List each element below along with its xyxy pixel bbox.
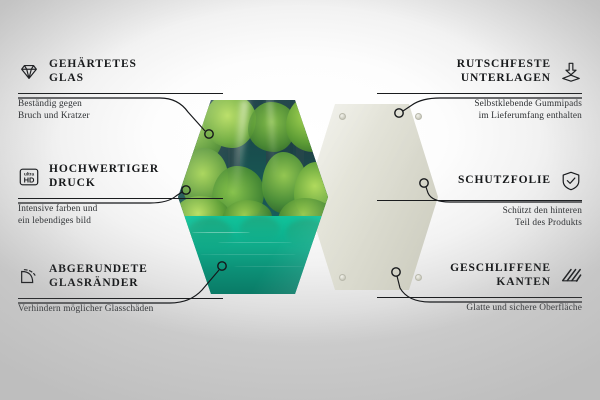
callout-header: SCHUTZFOLIE [377,170,582,192]
rounded-corner-icon [18,266,40,288]
callout-title: ABGERUNDETE GLASRÄNDER [49,263,148,290]
callout-rounded-glass-edges: ABGERUNDETE GLASRÄNDER Verhindern möglic… [18,263,223,316]
callout-divider [377,297,582,298]
diamond-icon [18,61,40,83]
callout-divider [18,93,223,94]
callout-header: GESCHLIFFENE KANTEN [377,262,582,289]
svg-text:HD: HD [24,175,35,184]
callout-polished-edges: GESCHLIFFENE KANTEN Glatte und sichere O… [377,262,582,315]
callout-title: SCHUTZFOLIE [458,174,551,188]
callout-title: GEHÄRTETES GLAS [49,58,137,85]
infographic-canvas: GEHÄRTETES GLAS Beständig gegen Bruch un… [0,0,600,400]
callout-subtitle: Schützt den hinteren Teil des Produkts [377,206,582,229]
callout-header: RUTSCHFESTE UNTERLAGEN [377,58,582,85]
callout-divider [377,93,582,94]
hatch-lines-icon [560,265,582,287]
ultra-hd-icon: ultra HD [18,166,40,188]
callout-subtitle: Verhindern möglicher Glasschäden [18,304,223,316]
callout-divider [377,200,582,201]
callout-header: ultra HD HOCHWERTIGER DRUCK [18,163,223,190]
callout-divider [18,298,223,299]
callout-subtitle: Selbstklebende Gummipads im Lieferumfang… [377,99,582,122]
callout-title: RUTSCHFESTE UNTERLAGEN [457,58,551,85]
callout-title: HOCHWERTIGER DRUCK [49,163,159,190]
callout-title: GESCHLIFFENE KANTEN [450,262,551,289]
arrow-down-pad-icon [560,61,582,83]
rubber-pad [339,274,346,281]
callout-header: GEHÄRTETES GLAS [18,58,223,85]
callout-tempered-glass: GEHÄRTETES GLAS Beständig gegen Bruch un… [18,58,223,122]
callout-subtitle: Beständig gegen Bruch und Kratzer [18,99,223,122]
callout-subtitle: Glatte und sichere Oberfläche [377,303,582,315]
callout-subtitle: Intensive farben und ein lebendiges bild [18,204,223,227]
callout-protective-film: SCHUTZFOLIE Schützt den hinteren Teil de… [377,170,582,229]
callout-header: ABGERUNDETE GLASRÄNDER [18,263,223,290]
shield-check-icon [560,170,582,192]
callout-high-quality-print: ultra HD HOCHWERTIGER DRUCK Intensive fa… [18,163,223,227]
callout-divider [18,198,223,199]
callout-non-slip-pads: RUTSCHFESTE UNTERLAGEN Selbstklebende Gu… [377,58,582,122]
rubber-pad [339,113,346,120]
